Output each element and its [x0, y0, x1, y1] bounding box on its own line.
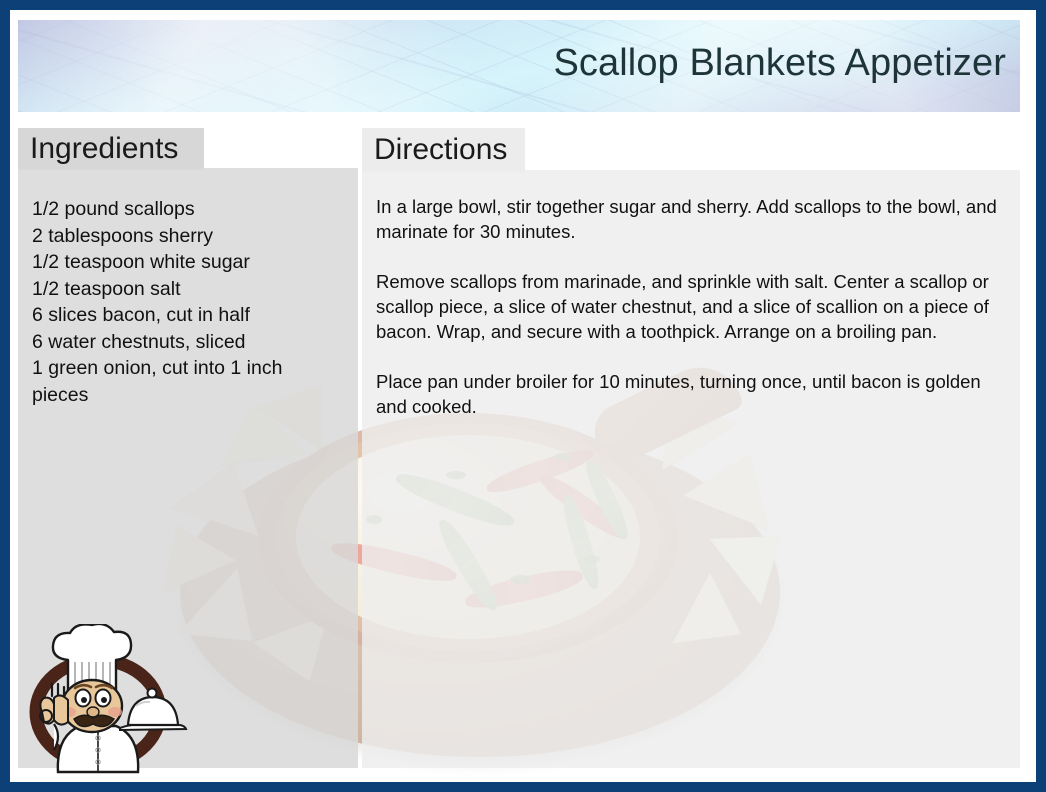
direction-step: Remove scallops from marinade, and sprin… [376, 269, 1008, 344]
directions-panel: In a large bowl, stir together sugar and… [362, 170, 1020, 768]
chef-mascot-logo [24, 624, 192, 774]
ingredients-tab: Ingredients [18, 128, 204, 170]
ingredients-list: 1/2 pound scallops 2 tablespoons sherry … [32, 196, 342, 408]
page-title: Scallop Blankets Appetizer [553, 42, 1006, 85]
directions-body: In a large bowl, stir together sugar and… [376, 194, 1008, 419]
recipe-slide: Scallop Blankets Appetizer Ingredients 1… [0, 0, 1046, 792]
direction-step: Place pan under broiler for 10 minutes, … [376, 369, 1008, 419]
list-item: 1/2 pound scallops [32, 196, 342, 223]
list-item: 1/2 teaspoon salt [32, 276, 342, 303]
list-item: 2 tablespoons sherry [32, 223, 342, 250]
slide-inner-frame: Scallop Blankets Appetizer Ingredients 1… [10, 10, 1036, 782]
direction-step: In a large bowl, stir together sugar and… [376, 194, 1008, 244]
ingredients-tab-label: Ingredients [30, 134, 178, 164]
cloche-platter-icon [120, 689, 186, 731]
chef-icon [24, 624, 192, 774]
directions-tab: Directions [362, 128, 525, 172]
list-item: 1 green onion, cut into 1 inch pieces [32, 355, 342, 408]
list-item: 6 water chestnuts, sliced [32, 329, 342, 356]
directions-tab-label: Directions [374, 135, 507, 165]
header-banner: Scallop Blankets Appetizer [18, 20, 1020, 112]
list-item: 6 slices bacon, cut in half [32, 302, 342, 329]
list-item: 1/2 teaspoon white sugar [32, 249, 342, 276]
